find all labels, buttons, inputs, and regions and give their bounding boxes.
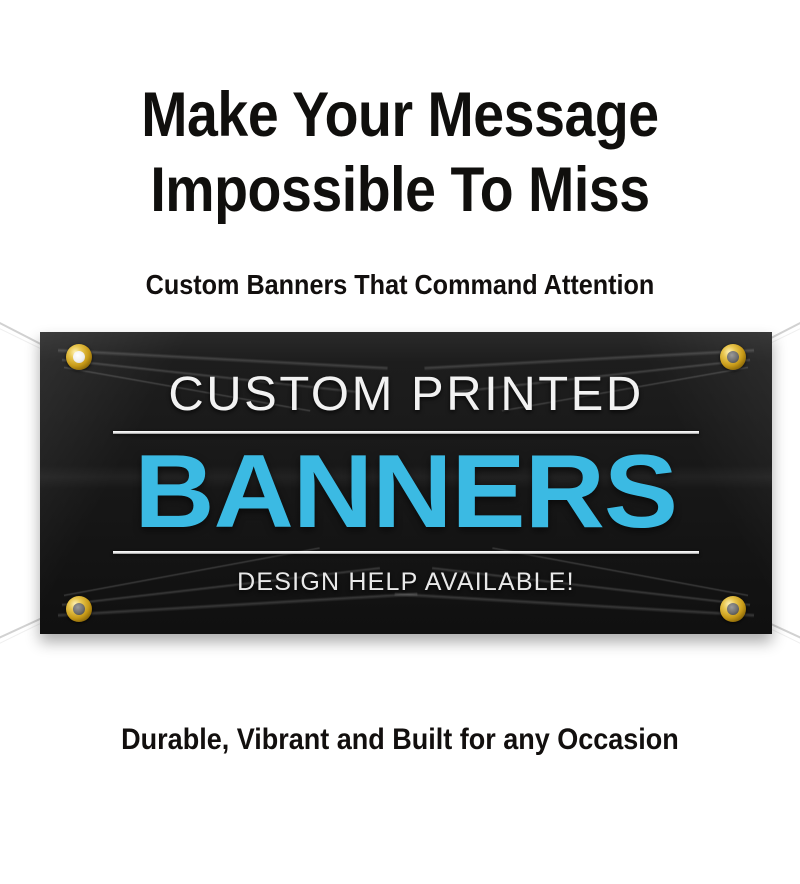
banner-headline-main: BANNERS [135,442,678,542]
grommet-icon-top-left [66,344,92,370]
banner-headline-top: CUSTOM PRINTED [168,370,643,420]
grommet-icon-top-right [720,344,746,370]
page-root: Make Your Message Impossible To Miss Cus… [0,0,800,884]
banner-content: CUSTOM PRINTED BANNERS DESIGN HELP AVAIL… [40,332,772,634]
banner-divider-lower [113,551,699,554]
headline-line-2: Impossible To Miss [48,153,752,228]
page-title: Make Your Message Impossible To Miss [48,78,752,228]
banner-product-image: CUSTOM PRINTED BANNERS DESIGN HELP AVAIL… [0,310,800,650]
grommet-icon-bottom-left [66,596,92,622]
page-subtitle: Custom Banners That Command Attention [40,268,760,302]
banner-footer-text: DESIGN HELP AVAILABLE! [237,568,575,596]
page-tagline: Durable, Vibrant and Built for any Occas… [40,722,760,758]
banner-surface: CUSTOM PRINTED BANNERS DESIGN HELP AVAIL… [40,332,772,634]
headline-line-1: Make Your Message [48,78,752,153]
grommet-icon-bottom-right [720,596,746,622]
